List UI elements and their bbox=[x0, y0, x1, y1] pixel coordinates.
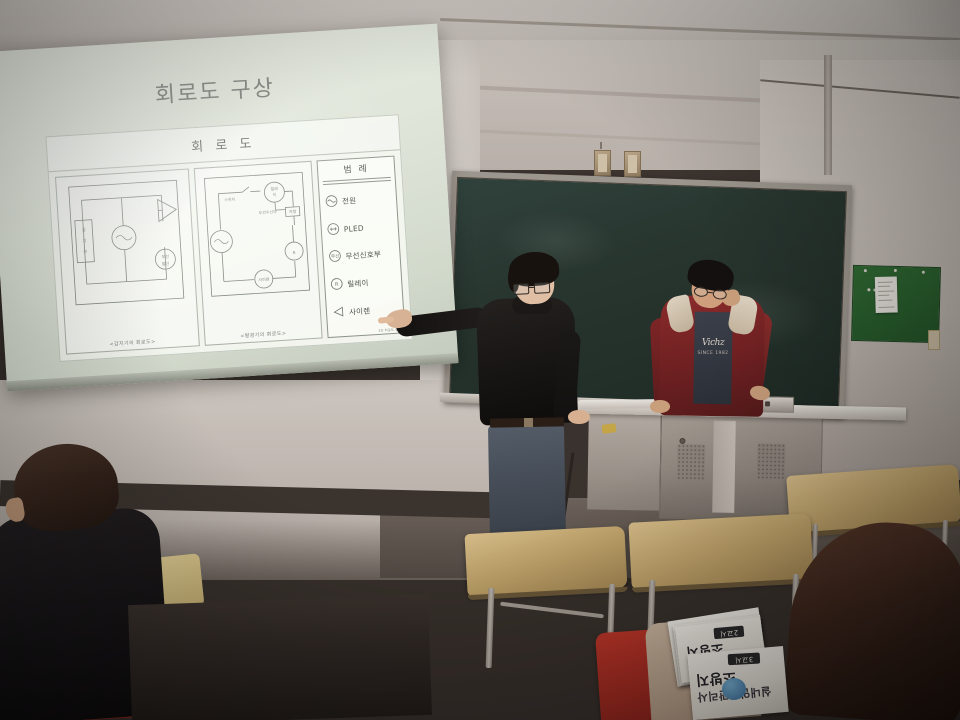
svg-text:이: 이 bbox=[272, 191, 276, 197]
svg-text:지: 지 bbox=[82, 237, 86, 244]
speaker-grille-icon bbox=[757, 443, 786, 479]
paper-band: 3교시 bbox=[728, 653, 761, 666]
svg-text:R: R bbox=[293, 250, 296, 255]
svg-text:무선수신부: 무선수신부 bbox=[258, 208, 277, 215]
svg-text:발신: 발신 bbox=[162, 260, 170, 266]
svg-text:스위치: 스위치 bbox=[224, 196, 236, 203]
legend-label: 릴레이 bbox=[347, 278, 369, 290]
wall-plaque-1 bbox=[594, 150, 611, 176]
svg-text:저항: 저항 bbox=[289, 208, 297, 214]
legend-item: PLED bbox=[326, 217, 395, 240]
svg-text:R: R bbox=[335, 282, 339, 288]
presenter-legs bbox=[488, 423, 566, 542]
podium-side-cabinet bbox=[587, 413, 661, 510]
circuit-diagram-emitter: 스위치 릴레 이 무선수신부 저항 R 사이렌 <발광기의 회로도> bbox=[194, 161, 323, 346]
presenter2-left-hand bbox=[650, 400, 670, 413]
wall-plaque-2 bbox=[624, 151, 641, 177]
paper-band-text: 2교시 bbox=[713, 626, 744, 640]
legend-item: R 릴레이 bbox=[330, 272, 399, 295]
circuit-caption-detector: <감지기의 회로도> bbox=[66, 335, 198, 350]
legend-label: 전원 bbox=[342, 195, 357, 207]
presenter2-tshirt bbox=[693, 312, 733, 405]
foreground-desk-shadow bbox=[128, 595, 432, 720]
desk-leg bbox=[486, 588, 495, 668]
circuit-diagram-detector: 감 지 부 무선 발신 <감지기의 회로도> bbox=[55, 169, 200, 355]
svg-text:무선: 무선 bbox=[331, 253, 340, 260]
presenter-right-hand bbox=[568, 410, 590, 424]
slide-panel: 회 로 도 bbox=[45, 114, 412, 362]
paper-band: 2교시 bbox=[713, 626, 744, 640]
projection-screen: 회로도 구상 회 로 도 bbox=[0, 24, 458, 392]
speaker-grille-icon bbox=[677, 444, 706, 480]
svg-text:부: 부 bbox=[83, 249, 87, 255]
tshirt-sub-text: SINCE 1982 bbox=[695, 351, 731, 356]
desk bbox=[464, 526, 627, 596]
power-source-icon bbox=[325, 193, 339, 213]
pled-icon bbox=[326, 220, 340, 240]
legend-item: 무선 무선신호부 bbox=[328, 244, 397, 267]
podium-sticker bbox=[601, 423, 616, 434]
tshirt-logo-text: Vichz bbox=[697, 336, 729, 351]
svg-text:릴레: 릴레 bbox=[270, 185, 278, 191]
svg-text:사이렌: 사이렌 bbox=[258, 276, 270, 283]
wall-conduit-pipe bbox=[824, 55, 832, 175]
notice-paper bbox=[875, 276, 898, 313]
desk bbox=[628, 513, 813, 588]
siren-icon bbox=[331, 303, 345, 323]
blue-bottle-cap bbox=[722, 678, 746, 700]
svg-text:감: 감 bbox=[82, 226, 86, 232]
classroom-photo: 회로도 구상 회 로 도 bbox=[0, 0, 960, 720]
legend-title: 범 례 bbox=[318, 160, 395, 178]
legend-label: 사이렌 bbox=[349, 305, 371, 317]
paper-band-text: 3교시 bbox=[728, 653, 761, 666]
desk-rail bbox=[500, 602, 604, 619]
legend-label: PLED bbox=[344, 224, 365, 234]
belt-buckle bbox=[524, 418, 533, 427]
glasses-icon bbox=[513, 282, 549, 293]
legend-label: 무선신호부 bbox=[345, 249, 381, 262]
wireless-receiver-icon: 무선 bbox=[328, 248, 342, 268]
slide-panel-header-text: 회 로 도 bbox=[191, 132, 256, 155]
relay-icon: R bbox=[330, 275, 344, 295]
wall-hook bbox=[600, 142, 602, 149]
legend-item: 전원 bbox=[325, 189, 394, 212]
circuit-caption-emitter: <발광기의 회로도> bbox=[205, 328, 321, 342]
wall-switch[interactable] bbox=[928, 330, 940, 350]
